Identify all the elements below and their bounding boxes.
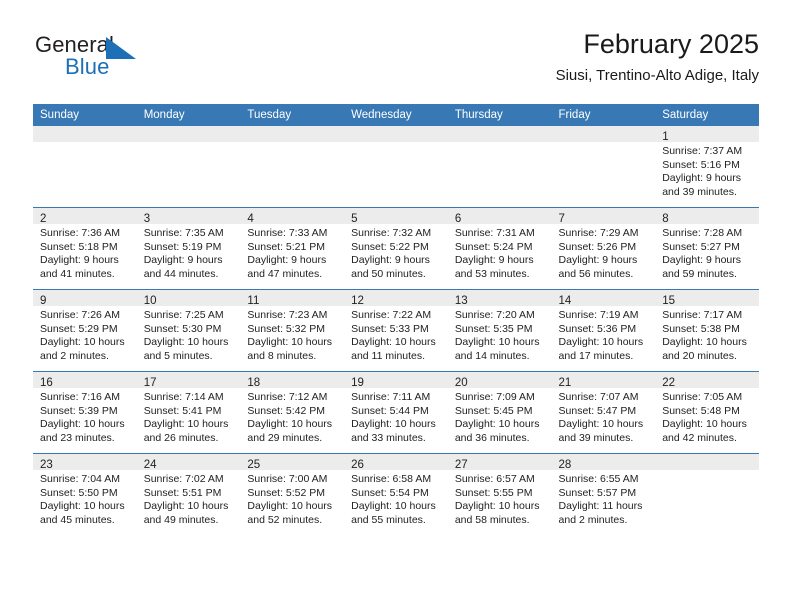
calendar-header-row: Sunday Monday Tuesday Wednesday Thursday… [33,104,759,126]
day-number-band: 2 [33,208,137,224]
weekday-header-wednesday: Wednesday [344,104,448,126]
day-cell-body: Sunrise: 7:20 AMSunset: 5:35 PMDaylight:… [448,306,552,371]
day-cell[interactable]: 11Sunrise: 7:23 AMSunset: 5:32 PMDayligh… [240,290,344,372]
day-cell-body: Sunrise: 7:26 AMSunset: 5:29 PMDaylight:… [33,306,137,371]
day-cell[interactable]: 21Sunrise: 7:07 AMSunset: 5:47 PMDayligh… [552,372,656,454]
day-number-band [240,126,344,142]
day-cell-body: Sunrise: 7:17 AMSunset: 5:38 PMDaylight:… [655,306,759,371]
day-cell-body: Sunrise: 7:11 AMSunset: 5:44 PMDaylight:… [344,388,448,453]
title-block: February 2025 Siusi, Trentino-Alto Adige… [556,28,759,87]
day-number: 23 [40,459,53,471]
day-number-band [448,126,552,142]
day-cell[interactable]: 4Sunrise: 7:33 AMSunset: 5:21 PMDaylight… [240,208,344,290]
sunset-text: Sunset: 5:33 PM [351,323,442,337]
day-number-band: 1 [655,126,759,142]
day-number-band: 20 [448,372,552,388]
daylight-text-line1: Daylight: 10 hours [455,418,546,432]
daylight-text-line1: Daylight: 10 hours [247,336,338,350]
day-cell-empty [552,126,656,208]
sunrise-text: Sunrise: 7:22 AM [351,309,442,323]
brand-logo[interactable]: General Blue [33,32,273,90]
day-cell-body: Sunrise: 7:22 AMSunset: 5:33 PMDaylight:… [344,306,448,371]
day-cell[interactable]: 2Sunrise: 7:36 AMSunset: 5:18 PMDaylight… [33,208,137,290]
day-cell[interactable]: 6Sunrise: 7:31 AMSunset: 5:24 PMDaylight… [448,208,552,290]
weekday-header-tuesday: Tuesday [240,104,344,126]
day-cell-empty [655,454,759,536]
day-number: 15 [662,295,675,307]
daylight-text-line1: Daylight: 10 hours [40,336,131,350]
sunset-text: Sunset: 5:47 PM [559,405,650,419]
sunrise-text: Sunrise: 7:19 AM [559,309,650,323]
day-cell-body: Sunrise: 7:14 AMSunset: 5:41 PMDaylight:… [137,388,241,453]
day-number: 24 [144,459,157,471]
day-cell-body: Sunrise: 7:23 AMSunset: 5:32 PMDaylight:… [240,306,344,371]
day-number-band: 10 [137,290,241,306]
day-number: 25 [247,459,260,471]
daylight-text-line2: and 42 minutes. [662,432,753,446]
day-number-band: 9 [33,290,137,306]
sunset-text: Sunset: 5:18 PM [40,241,131,255]
sunset-text: Sunset: 5:30 PM [144,323,235,337]
sunrise-text: Sunrise: 7:26 AM [40,309,131,323]
day-number-band [344,126,448,142]
sunrise-text: Sunrise: 7:35 AM [144,227,235,241]
sunset-text: Sunset: 5:45 PM [455,405,546,419]
sunset-text: Sunset: 5:22 PM [351,241,442,255]
day-cell[interactable]: 26Sunrise: 6:58 AMSunset: 5:54 PMDayligh… [344,454,448,536]
day-cell-body: Sunrise: 6:55 AMSunset: 5:57 PMDaylight:… [552,470,656,535]
daylight-text-line1: Daylight: 9 hours [351,254,442,268]
day-cell-body [137,142,241,204]
daylight-text-line2: and 14 minutes. [455,350,546,364]
day-number: 22 [662,377,675,389]
sunrise-text: Sunrise: 7:36 AM [40,227,131,241]
sunrise-text: Sunrise: 7:16 AM [40,391,131,405]
daylight-text-line2: and 41 minutes. [40,268,131,282]
sunrise-text: Sunrise: 7:14 AM [144,391,235,405]
daylight-text-line1: Daylight: 10 hours [455,500,546,514]
day-cell[interactable]: 20Sunrise: 7:09 AMSunset: 5:45 PMDayligh… [448,372,552,454]
day-number-band: 8 [655,208,759,224]
daylight-text-line2: and 17 minutes. [559,350,650,364]
weekday-header-sunday: Sunday [33,104,137,126]
sunset-text: Sunset: 5:55 PM [455,487,546,501]
day-number-band: 7 [552,208,656,224]
daylight-text-line1: Daylight: 10 hours [247,418,338,432]
day-number: 19 [351,377,364,389]
day-cell[interactable]: 15Sunrise: 7:17 AMSunset: 5:38 PMDayligh… [655,290,759,372]
sunset-text: Sunset: 5:24 PM [455,241,546,255]
daylight-text-line1: Daylight: 11 hours [559,500,650,514]
sunrise-text: Sunrise: 7:23 AM [247,309,338,323]
day-number: 18 [247,377,260,389]
daylight-text-line2: and 29 minutes. [247,432,338,446]
daylight-text-line2: and 44 minutes. [144,268,235,282]
daylight-text-line2: and 56 minutes. [559,268,650,282]
day-number: 17 [144,377,157,389]
day-number: 14 [559,295,572,307]
sunrise-text: Sunrise: 7:05 AM [662,391,753,405]
day-cell-body: Sunrise: 7:16 AMSunset: 5:39 PMDaylight:… [33,388,137,453]
day-number-band [137,126,241,142]
sunrise-text: Sunrise: 7:12 AM [247,391,338,405]
sunrise-text: Sunrise: 6:58 AM [351,473,442,487]
page-header: General Blue February 2025 Siusi, Trenti… [33,28,759,94]
daylight-text-line2: and 50 minutes. [351,268,442,282]
day-cell-body: Sunrise: 7:07 AMSunset: 5:47 PMDaylight:… [552,388,656,453]
daylight-text-line2: and 2 minutes. [559,514,650,528]
day-cell-body: Sunrise: 7:35 AMSunset: 5:19 PMDaylight:… [137,224,241,289]
day-cell[interactable]: 13Sunrise: 7:20 AMSunset: 5:35 PMDayligh… [448,290,552,372]
daylight-text-line1: Daylight: 10 hours [144,500,235,514]
sunrise-text: Sunrise: 7:17 AM [662,309,753,323]
day-cell-body: Sunrise: 7:29 AMSunset: 5:26 PMDaylight:… [552,224,656,289]
day-cell-empty [33,126,137,208]
weekday-header-saturday: Saturday [655,104,759,126]
sunset-text: Sunset: 5:50 PM [40,487,131,501]
day-number: 7 [559,213,565,225]
daylight-text-line1: Daylight: 9 hours [40,254,131,268]
calendar-table: Sunday Monday Tuesday Wednesday Thursday… [33,104,759,535]
day-number-band: 19 [344,372,448,388]
day-cell[interactable]: 1Sunrise: 7:37 AMSunset: 5:16 PMDaylight… [655,126,759,208]
day-number: 13 [455,295,468,307]
brand-name-blue: Blue [65,54,109,80]
day-cell[interactable]: 25Sunrise: 7:00 AMSunset: 5:52 PMDayligh… [240,454,344,536]
day-number-band [33,126,137,142]
daylight-text-line1: Daylight: 10 hours [351,336,442,350]
day-cell-body [655,470,759,532]
day-cell-body: Sunrise: 6:57 AMSunset: 5:55 PMDaylight:… [448,470,552,535]
day-cell[interactable]: 28Sunrise: 6:55 AMSunset: 5:57 PMDayligh… [552,454,656,536]
daylight-text-line2: and 49 minutes. [144,514,235,528]
daylight-text-line2: and 47 minutes. [247,268,338,282]
day-number-band: 13 [448,290,552,306]
day-cell[interactable]: 27Sunrise: 6:57 AMSunset: 5:55 PMDayligh… [448,454,552,536]
day-number: 11 [247,295,259,307]
day-cell[interactable]: 18Sunrise: 7:12 AMSunset: 5:42 PMDayligh… [240,372,344,454]
sunset-text: Sunset: 5:42 PM [247,405,338,419]
day-cell-body [448,142,552,204]
day-cell[interactable]: 3Sunrise: 7:35 AMSunset: 5:19 PMDaylight… [137,208,241,290]
daylight-text-line1: Daylight: 10 hours [662,418,753,432]
daylight-text-line2: and 20 minutes. [662,350,753,364]
sunset-text: Sunset: 5:26 PM [559,241,650,255]
day-cell[interactable]: 12Sunrise: 7:22 AMSunset: 5:33 PMDayligh… [344,290,448,372]
daylight-text-line2: and 11 minutes. [351,350,442,364]
sunrise-text: Sunrise: 7:02 AM [144,473,235,487]
day-cell[interactable]: 24Sunrise: 7:02 AMSunset: 5:51 PMDayligh… [137,454,241,536]
day-cell-body [552,142,656,204]
daylight-text-line1: Daylight: 10 hours [40,500,131,514]
daylight-text-line2: and 36 minutes. [455,432,546,446]
sunset-text: Sunset: 5:19 PM [144,241,235,255]
day-cell[interactable]: 23Sunrise: 7:04 AMSunset: 5:50 PMDayligh… [33,454,137,536]
day-cell-body: Sunrise: 7:37 AMSunset: 5:16 PMDaylight:… [655,142,759,207]
daylight-text-line1: Daylight: 9 hours [455,254,546,268]
daylight-text-line2: and 39 minutes. [662,186,753,200]
day-number-band: 6 [448,208,552,224]
triangle-flag-icon [106,37,136,59]
day-number: 12 [351,295,364,307]
day-number: 9 [40,295,46,307]
weekday-header-monday: Monday [137,104,241,126]
day-cell-body [240,142,344,204]
sunset-text: Sunset: 5:29 PM [40,323,131,337]
daylight-text-line2: and 59 minutes. [662,268,753,282]
day-cell-body: Sunrise: 7:28 AMSunset: 5:27 PMDaylight:… [655,224,759,289]
page-subtitle: Siusi, Trentino-Alto Adige, Italy [556,65,759,87]
day-number: 3 [144,213,150,225]
daylight-text-line2: and 23 minutes. [40,432,131,446]
daylight-text-line2: and 53 minutes. [455,268,546,282]
day-number: 4 [247,213,253,225]
day-cell-empty [240,126,344,208]
day-cell[interactable]: 19Sunrise: 7:11 AMSunset: 5:44 PMDayligh… [344,372,448,454]
sunset-text: Sunset: 5:36 PM [559,323,650,337]
daylight-text-line1: Daylight: 9 hours [662,172,753,186]
sunset-text: Sunset: 5:27 PM [662,241,753,255]
day-cell-empty [344,126,448,208]
day-number: 6 [455,213,461,225]
day-number-band [655,454,759,470]
day-number: 26 [351,459,364,471]
day-number-band: 4 [240,208,344,224]
day-number-band: 12 [344,290,448,306]
sunset-text: Sunset: 5:41 PM [144,405,235,419]
sunrise-text: Sunrise: 7:04 AM [40,473,131,487]
day-number-band: 5 [344,208,448,224]
day-number: 5 [351,213,357,225]
day-cell-body: Sunrise: 7:31 AMSunset: 5:24 PMDaylight:… [448,224,552,289]
daylight-text-line1: Daylight: 9 hours [559,254,650,268]
daylight-text-line1: Daylight: 10 hours [559,336,650,350]
sunset-text: Sunset: 5:51 PM [144,487,235,501]
day-cell[interactable]: 22Sunrise: 7:05 AMSunset: 5:48 PMDayligh… [655,372,759,454]
day-number-band: 26 [344,454,448,470]
day-number: 8 [662,213,668,225]
day-cell-body: Sunrise: 7:04 AMSunset: 5:50 PMDaylight:… [33,470,137,535]
daylight-text-line1: Daylight: 10 hours [144,418,235,432]
sunset-text: Sunset: 5:21 PM [247,241,338,255]
day-number-band: 17 [137,372,241,388]
day-number-band: 11 [240,290,344,306]
day-number-band: 14 [552,290,656,306]
sunrise-text: Sunrise: 7:29 AM [559,227,650,241]
sunrise-text: Sunrise: 6:55 AM [559,473,650,487]
day-cell-body: Sunrise: 7:36 AMSunset: 5:18 PMDaylight:… [33,224,137,289]
day-cell[interactable]: 10Sunrise: 7:25 AMSunset: 5:30 PMDayligh… [137,290,241,372]
day-number-band: 27 [448,454,552,470]
sunrise-text: Sunrise: 7:33 AM [247,227,338,241]
sunrise-text: Sunrise: 7:09 AM [455,391,546,405]
calendar-week-row: 2Sunrise: 7:36 AMSunset: 5:18 PMDaylight… [33,208,759,290]
calendar-week-row: 1Sunrise: 7:37 AMSunset: 5:16 PMDaylight… [33,126,759,208]
daylight-text-line2: and 26 minutes. [144,432,235,446]
day-cell-body: Sunrise: 7:33 AMSunset: 5:21 PMDaylight:… [240,224,344,289]
day-number-band: 22 [655,372,759,388]
day-number: 21 [559,377,572,389]
day-number: 10 [144,295,157,307]
day-number: 27 [455,459,468,471]
calendar-week-row: 16Sunrise: 7:16 AMSunset: 5:39 PMDayligh… [33,372,759,454]
daylight-text-line2: and 2 minutes. [40,350,131,364]
day-cell-empty [137,126,241,208]
daylight-text-line2: and 33 minutes. [351,432,442,446]
daylight-text-line1: Daylight: 10 hours [247,500,338,514]
day-cell-empty [448,126,552,208]
day-cell[interactable]: 17Sunrise: 7:14 AMSunset: 5:41 PMDayligh… [137,372,241,454]
daylight-text-line2: and 52 minutes. [247,514,338,528]
sunrise-text: Sunrise: 7:20 AM [455,309,546,323]
daylight-text-line2: and 39 minutes. [559,432,650,446]
day-cell-body: Sunrise: 7:19 AMSunset: 5:36 PMDaylight:… [552,306,656,371]
day-cell-body: Sunrise: 7:09 AMSunset: 5:45 PMDaylight:… [448,388,552,453]
day-number: 20 [455,377,468,389]
day-cell[interactable]: 7Sunrise: 7:29 AMSunset: 5:26 PMDaylight… [552,208,656,290]
sunrise-text: Sunrise: 7:07 AM [559,391,650,405]
daylight-text-line1: Daylight: 10 hours [351,418,442,432]
calendar-body: 1Sunrise: 7:37 AMSunset: 5:16 PMDaylight… [33,126,759,535]
sunrise-text: Sunrise: 7:11 AM [351,391,442,405]
sunset-text: Sunset: 5:39 PM [40,405,131,419]
daylight-text-line2: and 55 minutes. [351,514,442,528]
sunset-text: Sunset: 5:44 PM [351,405,442,419]
weekday-header-thursday: Thursday [448,104,552,126]
sunrise-text: Sunrise: 7:00 AM [247,473,338,487]
day-cell-body: Sunrise: 7:25 AMSunset: 5:30 PMDaylight:… [137,306,241,371]
day-number-band: 21 [552,372,656,388]
daylight-text-line1: Daylight: 9 hours [144,254,235,268]
day-cell-body: Sunrise: 7:02 AMSunset: 5:51 PMDaylight:… [137,470,241,535]
day-cell-body: Sunrise: 7:05 AMSunset: 5:48 PMDaylight:… [655,388,759,453]
day-number: 16 [40,377,53,389]
sunset-text: Sunset: 5:54 PM [351,487,442,501]
day-cell[interactable]: 16Sunrise: 7:16 AMSunset: 5:39 PMDayligh… [33,372,137,454]
day-number: 2 [40,213,46,225]
sunrise-text: Sunrise: 7:37 AM [662,145,753,159]
sunset-text: Sunset: 5:16 PM [662,159,753,173]
sunset-text: Sunset: 5:48 PM [662,405,753,419]
calendar-week-row: 9Sunrise: 7:26 AMSunset: 5:29 PMDaylight… [33,290,759,372]
page-title: February 2025 [556,28,759,61]
day-cell[interactable]: 14Sunrise: 7:19 AMSunset: 5:36 PMDayligh… [552,290,656,372]
day-number-band: 24 [137,454,241,470]
day-cell[interactable]: 5Sunrise: 7:32 AMSunset: 5:22 PMDaylight… [344,208,448,290]
sunset-text: Sunset: 5:52 PM [247,487,338,501]
daylight-text-line2: and 8 minutes. [247,350,338,364]
day-number-band: 15 [655,290,759,306]
daylight-text-line1: Daylight: 10 hours [351,500,442,514]
sunrise-text: Sunrise: 7:31 AM [455,227,546,241]
daylight-text-line1: Daylight: 10 hours [662,336,753,350]
day-cell[interactable]: 8Sunrise: 7:28 AMSunset: 5:27 PMDaylight… [655,208,759,290]
sunset-text: Sunset: 5:35 PM [455,323,546,337]
day-number-band [552,126,656,142]
sunset-text: Sunset: 5:38 PM [662,323,753,337]
day-cell-body [344,142,448,204]
day-number-band: 23 [33,454,137,470]
day-number-band: 25 [240,454,344,470]
weekday-header-friday: Friday [552,104,656,126]
daylight-text-line1: Daylight: 10 hours [144,336,235,350]
day-cell[interactable]: 9Sunrise: 7:26 AMSunset: 5:29 PMDaylight… [33,290,137,372]
sunrise-text: Sunrise: 7:32 AM [351,227,442,241]
daylight-text-line2: and 58 minutes. [455,514,546,528]
sunrise-text: Sunrise: 7:28 AM [662,227,753,241]
daylight-text-line1: Daylight: 9 hours [247,254,338,268]
calendar-week-row: 23Sunrise: 7:04 AMSunset: 5:50 PMDayligh… [33,454,759,536]
day-number-band: 16 [33,372,137,388]
day-cell-body [33,142,137,204]
daylight-text-line1: Daylight: 10 hours [40,418,131,432]
sunset-text: Sunset: 5:32 PM [247,323,338,337]
daylight-text-line2: and 5 minutes. [144,350,235,364]
day-cell-body: Sunrise: 7:32 AMSunset: 5:22 PMDaylight:… [344,224,448,289]
daylight-text-line1: Daylight: 10 hours [455,336,546,350]
day-number-band: 18 [240,372,344,388]
sunrise-text: Sunrise: 6:57 AM [455,473,546,487]
day-cell-body: Sunrise: 7:00 AMSunset: 5:52 PMDaylight:… [240,470,344,535]
day-number: 1 [662,131,668,143]
daylight-text-line2: and 45 minutes. [40,514,131,528]
calendar-page: General Blue February 2025 Siusi, Trenti… [0,0,792,612]
day-cell-body: Sunrise: 7:12 AMSunset: 5:42 PMDaylight:… [240,388,344,453]
daylight-text-line1: Daylight: 10 hours [559,418,650,432]
day-cell-body: Sunrise: 6:58 AMSunset: 5:54 PMDaylight:… [344,470,448,535]
day-number-band: 28 [552,454,656,470]
daylight-text-line1: Daylight: 9 hours [662,254,753,268]
sunrise-text: Sunrise: 7:25 AM [144,309,235,323]
sunset-text: Sunset: 5:57 PM [559,487,650,501]
day-number: 28 [559,459,572,471]
day-number-band: 3 [137,208,241,224]
